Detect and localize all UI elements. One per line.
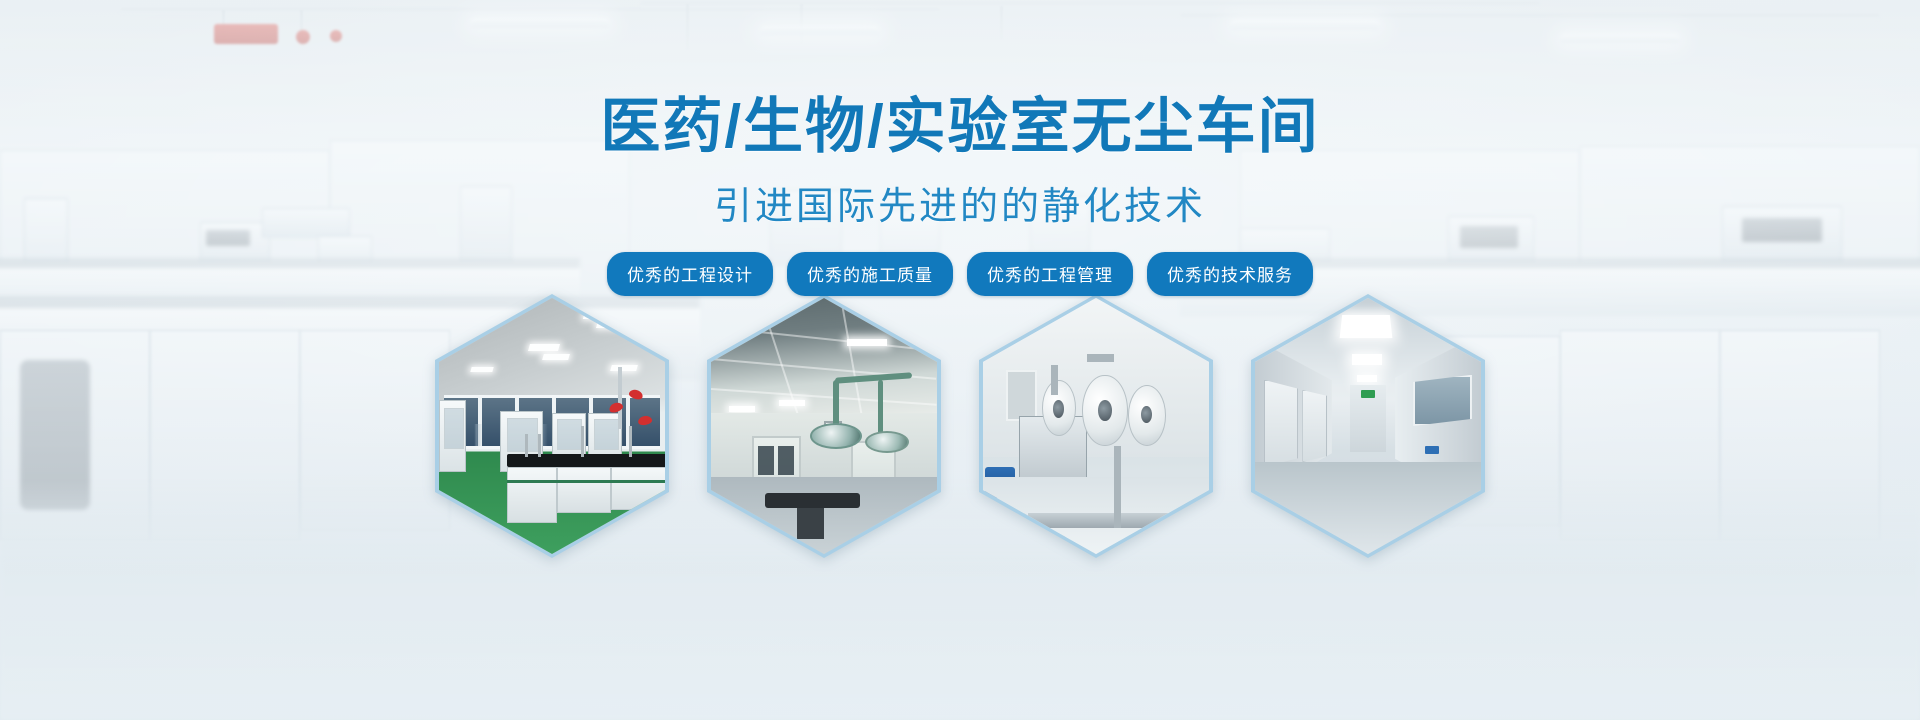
banner-subtitle: 引进国际先进的的静化技术	[714, 175, 1206, 230]
pill-technical-service[interactable]: 优秀的技术服务	[1147, 252, 1313, 296]
banner-title: 医药/生物/实验室无尘车间	[600, 78, 1319, 165]
pill-construction-quality[interactable]: 优秀的施工质量	[787, 252, 953, 296]
pill-project-management[interactable]: 优秀的工程管理	[967, 252, 1133, 296]
pill-engineering-design[interactable]: 优秀的工程设计	[607, 252, 773, 296]
banner-content: 医药/生物/实验室无尘车间 引进国际先进的的静化技术 优秀的工程设计 优秀的施工…	[0, 0, 1920, 720]
hero-banner: 医药/生物/实验室无尘车间 引进国际先进的的静化技术 优秀的工程设计 优秀的施工…	[0, 0, 1920, 720]
feature-pill-list: 优秀的工程设计 优秀的施工质量 优秀的工程管理 优秀的技术服务	[607, 252, 1313, 296]
